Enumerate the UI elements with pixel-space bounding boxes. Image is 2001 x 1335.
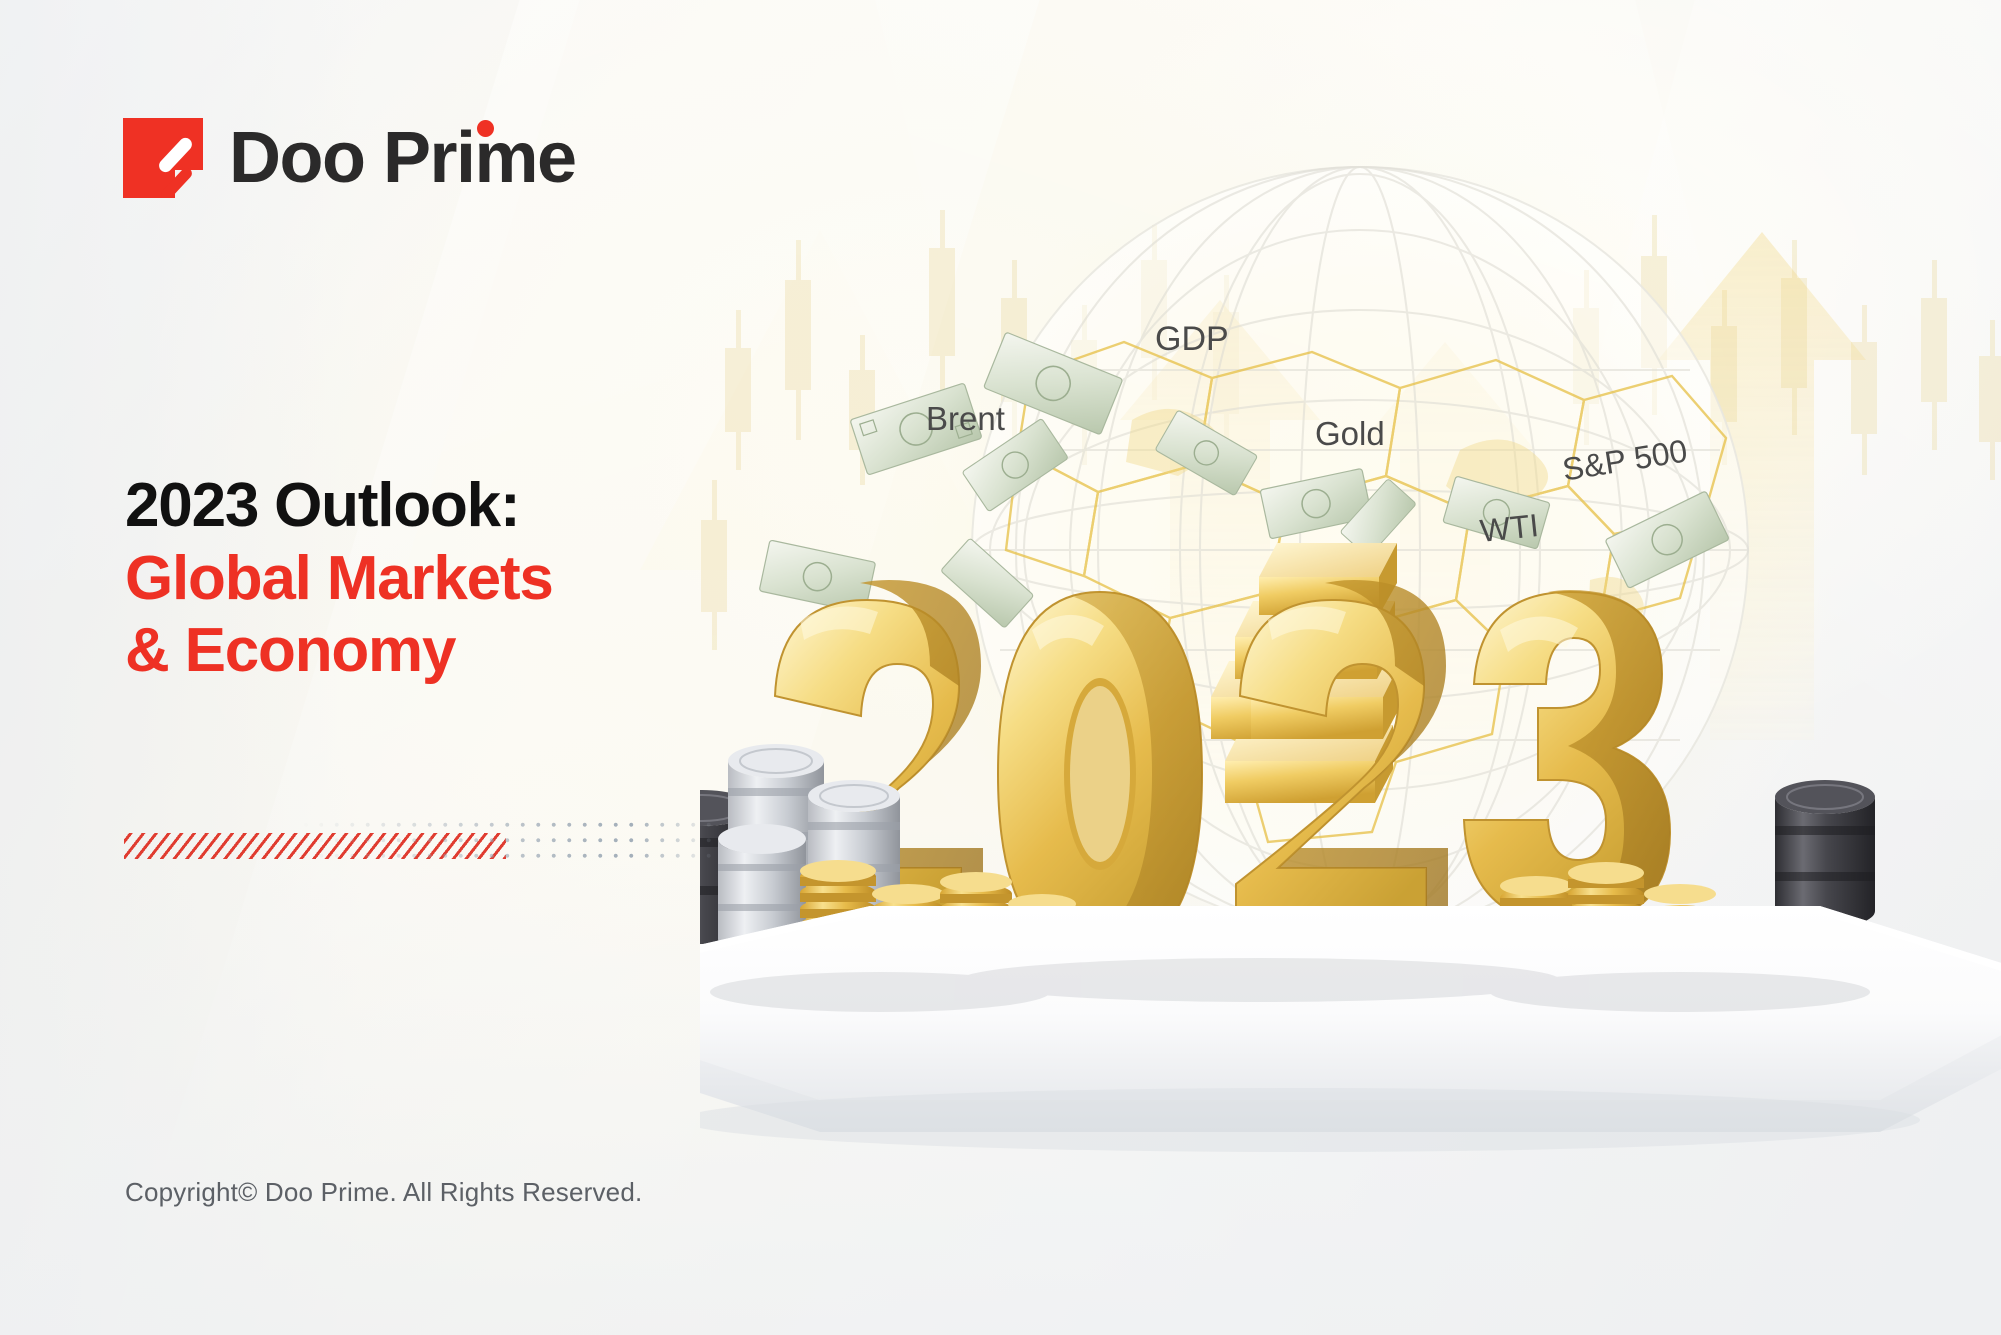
headline-line-2: Global Markets: [125, 543, 745, 616]
decorative-divider: [124, 823, 524, 865]
headline-line-3: & Economy: [125, 615, 745, 688]
page-title: 2023 Outlook: Global Markets & Economy: [125, 470, 745, 688]
hero-label-gdp: GDP: [1155, 320, 1229, 359]
hero-illustration: GDP Gold S&P 500 Brent WTI: [700, 120, 2001, 1180]
hero-label-gold: Gold: [1315, 415, 1385, 453]
brand-wordmark: Doo Prime: [229, 122, 576, 194]
brand-logo[interactable]: Doo Prime: [123, 118, 576, 198]
doo-prime-logo-mark-icon: [123, 118, 203, 198]
copyright-text: Copyright© Doo Prime. All Rights Reserve…: [125, 1177, 642, 1208]
divider-dot-grid: [298, 817, 723, 867]
brand-wordmark-text: Doo Prime: [229, 118, 576, 198]
white-podium: [700, 906, 2001, 1152]
hero-label-wti: WTI: [1478, 507, 1540, 550]
headline-line-1: 2023 Outlook:: [125, 470, 745, 543]
hero-label-brent: Brent: [926, 400, 1005, 438]
left-content-column: Doo Prime 2023 Outlook: Global Markets &…: [0, 0, 760, 1335]
wordmark-i-dot-icon: [477, 120, 494, 137]
